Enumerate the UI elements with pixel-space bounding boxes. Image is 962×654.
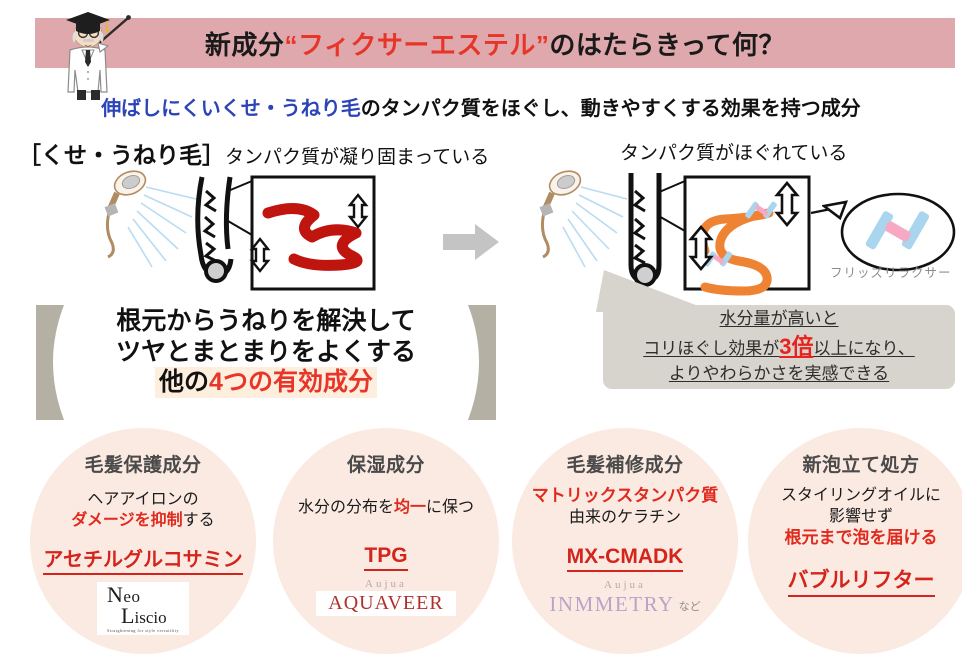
right-benefit-line1: 水分量が高いと [603, 307, 955, 331]
circle-3-logo: Aujua INMMETRY など [549, 579, 700, 617]
subtitle-blue-part: 伸ばしにくいくせ・うねり毛 [101, 98, 361, 120]
illustration-before [100, 165, 400, 310]
right-benefit-multiplier: 3倍 [779, 334, 813, 359]
circle-2-body: 水分の分布を均一に保つ [298, 497, 474, 518]
title-post: のはたらきって何？ [549, 30, 785, 60]
aquaveer-logo: AQUAVEER [316, 591, 455, 616]
water-spray-icon [563, 187, 627, 267]
circle-2-ingredient: TPG [364, 544, 407, 571]
left-summary-line1: 根元からうねりを解決して [80, 306, 452, 337]
bubble-label: フリッズリラクサー [830, 262, 962, 281]
circle-2-logo: Aujua AQUAVEER [316, 578, 455, 616]
circle-1-header: 毛髪保護成分 [84, 450, 201, 477]
caption-right: タンパク質がほぐれている [620, 138, 847, 165]
circle-4-body: スタイリングオイルに 影響せず 根元まで泡を届ける [781, 485, 941, 550]
inmmetry-suffix: など [679, 598, 701, 617]
ingredient-circle-2[interactable]: 保湿成分 水分の分布を均一に保つ TPG Aujua AQUAVEER [273, 428, 499, 654]
circle-1-logo: NNeoeo Liscio Straightening for style ve… [97, 582, 189, 635]
left-summary-line3-pre: 他の [159, 368, 209, 396]
inmmetry-logo: INMMETRY [549, 592, 674, 617]
left-summary-line2: ツヤとまとまりをよくする [80, 337, 452, 368]
circle-1-ingredient: アセチルグルコサミン [43, 543, 242, 575]
circle-3-ingredient: MX-CMADK [567, 545, 684, 572]
water-spray-icon [128, 187, 196, 267]
bracket-left-icon [36, 305, 64, 420]
neo-logo-tagline: Straightening for style versatility [107, 627, 179, 633]
neo-liscio-logo: NNeoeo Liscio Straightening for style ve… [97, 582, 189, 635]
ingredient-circle-4[interactable]: 新泡立て処方 スタイリングオイルに 影響せず 根元まで泡を届ける バブルリフター [748, 428, 962, 654]
circle-4-header: 新泡立て処方 [802, 450, 919, 477]
right-benefit-line3: よりやわらかさを実感できる [603, 362, 955, 386]
left-summary-text: 根元からうねりを解決して ツヤとまとまりをよくする 他の4つの有効成分 [80, 306, 452, 398]
title-pre: 新成分 [205, 30, 285, 60]
shower-head-icon [104, 167, 148, 257]
professor-mascot-icon [38, 2, 143, 102]
circle-4-ingredient: バブルリフター [788, 564, 935, 597]
transition-arrow-icon [443, 222, 501, 262]
page-title: 新成分“フィクサーエステル”のはたらきって何？ [205, 25, 785, 62]
subtitle: 伸ばしにくいくせ・うねり毛のタンパク質をほぐし、動きやすくする効果を持つ成分 [0, 92, 962, 121]
ingredient-circle-3[interactable]: 毛髪補修成分 マトリックスタンパク質 由来のケラチン MX-CMADK Auju… [512, 428, 738, 654]
hair-strand-icon [198, 177, 231, 281]
infographic-root: 新成分“フィクサーエステル”のはたらきって何？ [0, 0, 962, 654]
right-benefit-line2: コリほぐし効果が3倍以上になり、 [603, 331, 955, 362]
ingredient-circle-1[interactable]: 毛髪保護成分 ヘアアイロンの ダメージを抑制する アセチルグルコサミン NNeo… [30, 428, 256, 654]
circle-3-body: マトリックスタンパク質 由来のケラチン [532, 485, 719, 529]
ingredient-circles: 毛髪保護成分 ヘアアイロンの ダメージを抑制する アセチルグルコサミン NNeo… [0, 428, 962, 654]
circle-3-header: 毛髪補修成分 [566, 450, 683, 477]
aujua-brand-label: Aujua [365, 578, 407, 590]
shower-head-icon [539, 167, 583, 257]
right-benefit-text: 水分量が高いと コリほぐし効果が3倍以上になり、 よりやわらかさを実感できる [603, 307, 955, 386]
subtitle-black-part: のタンパク質をほぐし、動きやすくする効果を持つ成分 [361, 98, 861, 120]
aujua-brand-label: Aujua [604, 579, 646, 591]
left-summary-line3-red: 4つの有効成分 [209, 368, 373, 396]
left-summary-line3: 他の4つの有効成分 [80, 367, 452, 398]
title-banner: 新成分“フィクサーエステル”のはたらきって何？ [35, 18, 955, 68]
circle-1-body: ヘアアイロンの ダメージを抑制する [71, 489, 214, 531]
bracket-right-icon [468, 305, 496, 420]
title-highlight: “フィクサーエステル” [284, 30, 549, 60]
circle-2-header: 保湿成分 [347, 450, 425, 477]
left-summary-panel: 根元からうねりを解決して ツヤとまとまりをよくする 他の4つの有効成分 [36, 305, 496, 420]
